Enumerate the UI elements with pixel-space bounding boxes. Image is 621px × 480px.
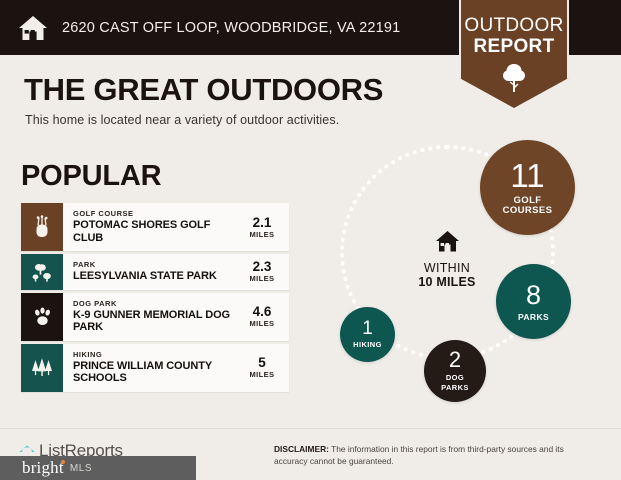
list-item-name: POTOMAC SHORES GOLF CLUB [73,219,235,244]
list-item-name: K-9 GUNNER MEMORIAL DOG PARK [73,309,235,334]
stat-circle-hiking[interactable]: 1 HIKING [340,307,395,362]
list-item[interactable]: GOLF COURSE POTOMAC SHORES GOLF CLUB 2.1… [21,203,289,251]
distance-value: 2.3 [253,260,272,274]
pine-trees-icon [29,356,55,380]
distance-unit: MILES [250,319,275,328]
list-item[interactable]: DOG PARK K-9 GUNNER MEMORIAL DOG PARK 4.… [21,293,289,341]
list-item-category: DOG PARK [73,299,235,309]
stat-value: 2 [449,349,461,371]
page-subtitle: This home is located near a variety of o… [25,113,339,127]
list-item-text: GOLF COURSE POTOMAC SHORES GOLF CLUB [63,203,239,251]
distance-unit: MILES [250,370,275,379]
distance-value: 4.6 [253,305,272,319]
paw-print-icon-tile [21,293,63,341]
stat-label: PARKS [518,312,549,322]
stat-label-2: COURSES [503,206,553,216]
list-item-name: LEESYLVANIA STATE PARK [73,270,235,283]
miles-label: 10 MILES [408,275,486,289]
golf-bag-icon [31,215,53,239]
park-tree-icon [30,261,54,283]
disclaimer-label: DISCLAIMER: [274,444,329,454]
mls-wordmark: MLS [70,463,92,474]
list-item-text: PARK LEESYLVANIA STATE PARK [63,254,239,290]
list-item-distance: 2.3 MILES [239,254,289,290]
tree-icon [499,61,529,93]
stat-label-2: PARKS [441,383,469,393]
bright-mls-badge: bright MLS [0,456,196,480]
stat-circle-parks[interactable]: 8 PARKS [496,264,571,339]
diagram-center-label: WITHIN 10 MILES [408,230,486,289]
list-item-distance: 2.1 MILES [239,203,289,251]
distance-unit: MILES [250,274,275,283]
list-item-name: PRINCE WILLIAM COUNTY SCHOOLS [73,360,235,385]
footer-divider [0,428,621,429]
disclaimer: DISCLAIMER: The information in this repo… [274,444,594,467]
list-item[interactable]: PARK LEESYLVANIA STATE PARK 2.3 MILES [21,254,289,290]
stat-circle-dog-parks[interactable]: 2 DOG PARKS [424,340,486,402]
list-item[interactable]: HIKING PRINCE WILLIAM COUNTY SCHOOLS 5 M… [21,344,289,392]
within-label: WITHIN [408,261,486,275]
distance-value: 2.1 [253,216,272,230]
outdoor-report-badge: OUTDOOR REPORT [459,0,569,108]
list-item-text: DOG PARK K-9 GUNNER MEMORIAL DOG PARK [63,293,239,341]
badge-line-report: REPORT [461,36,567,57]
stat-circle-golf-courses[interactable]: 11 GOLF COURSES [480,140,575,235]
list-item-category: GOLF COURSE [73,209,235,219]
list-item-distance: 5 MILES [239,344,289,392]
bright-text: bright [22,458,64,477]
list-item-category: HIKING [73,350,235,360]
page-title: THE GREAT OUTDOORS [24,72,383,108]
distance-value: 5 [258,356,266,370]
stat-value: 1 [362,319,373,338]
distance-unit: MILES [250,230,275,239]
home-icon [18,14,48,42]
stat-value: 11 [510,159,544,192]
list-item-text: HIKING PRINCE WILLIAM COUNTY SCHOOLS [63,344,239,392]
stat-label: DOG [446,373,464,383]
stat-value: 8 [526,282,541,309]
bright-dot-icon [61,460,65,464]
bright-wordmark: bright [22,458,64,478]
paw-print-icon [31,305,54,328]
badge-line-outdoor: OUTDOOR [461,16,567,36]
park-tree-icon-tile [21,254,63,290]
popular-list: GOLF COURSE POTOMAC SHORES GOLF CLUB 2.1… [21,203,289,395]
outdoor-stats-diagram: 11 GOLF COURSES 8 PARKS 2 DOG PARKS 1 HI… [330,135,615,425]
list-item-distance: 4.6 MILES [239,293,289,341]
property-address: 2620 CAST OFF LOOP, WOODBRIDGE, VA 22191 [62,20,400,36]
home-icon [435,230,460,253]
popular-section-heading: POPULAR [21,160,161,193]
list-item-category: PARK [73,260,235,270]
golf-bag-icon-tile [21,203,63,251]
pine-trees-icon-tile [21,344,63,392]
stat-label: HIKING [353,340,382,350]
